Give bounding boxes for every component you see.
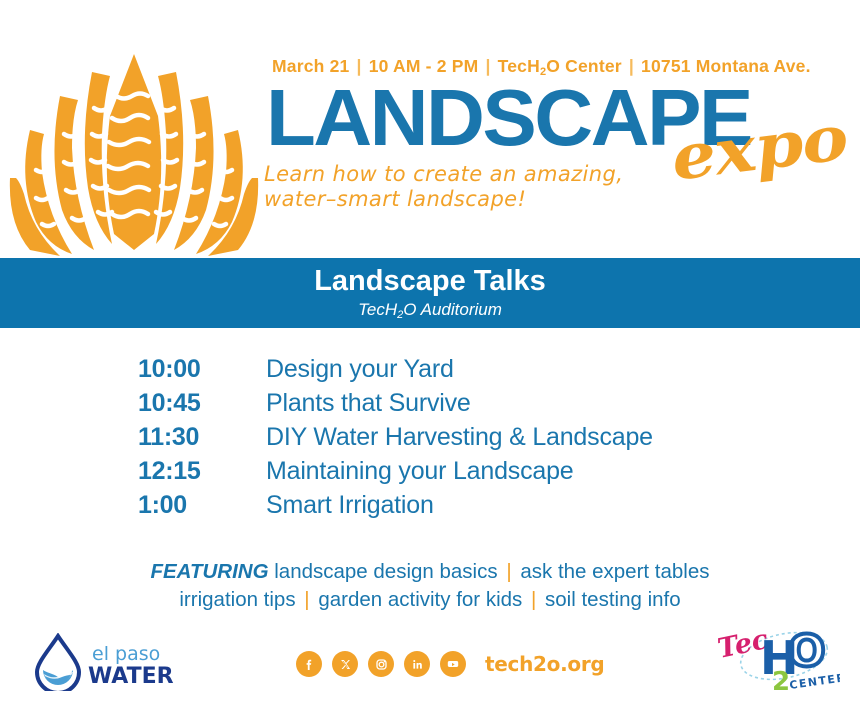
featuring-block: FEATURING landscape design basics | ask …: [0, 558, 860, 614]
schedule-time: 12:15: [138, 457, 266, 486]
talks-schedule-list: 10:00 Design your Yard 10:45 Plants that…: [138, 355, 653, 525]
featuring-label: FEATURING: [150, 560, 268, 583]
featuring-separator: |: [301, 588, 312, 611]
el-paso-water-logo: el paso WATER: [30, 633, 180, 691]
schedule-row: 10:45 Plants that Survive: [138, 389, 653, 423]
tech2o-center-logo: Tec H O 2 CENTER: [718, 622, 840, 698]
schedule-title: Design your Yard: [266, 355, 454, 384]
facebook-icon[interactable]: [296, 651, 322, 677]
featuring-item: landscape design basics: [274, 560, 497, 583]
featuring-separator: |: [503, 560, 514, 583]
schedule-title: DIY Water Harvesting & Landscape: [266, 423, 653, 452]
website-url[interactable]: tech2o.org: [485, 652, 604, 676]
schedule-title: Maintaining your Landscape: [266, 457, 574, 486]
agave-plant-icon: [8, 38, 260, 258]
flyer-page: March 21 | 10 AM - 2 PM | TecH2O Center …: [0, 0, 860, 714]
featuring-item: soil testing info: [545, 588, 681, 611]
schedule-title: Smart Irrigation: [266, 491, 434, 520]
tagline: Learn how to create an amazing, water–sm…: [264, 162, 623, 212]
social-links-row[interactable]: tech2o.org: [296, 651, 604, 677]
linkedin-icon[interactable]: [404, 651, 430, 677]
schedule-time: 10:45: [138, 389, 266, 418]
featuring-item: irrigation tips: [179, 588, 295, 611]
schedule-time: 10:00: [138, 355, 266, 384]
banner-title: Landscape Talks: [0, 258, 860, 296]
schedule-time: 11:30: [138, 423, 266, 452]
featuring-line-1: FEATURING landscape design basics | ask …: [0, 558, 860, 586]
featuring-line-2: irrigation tips | garden activity for ki…: [0, 586, 860, 614]
landscape-talks-banner: Landscape Talks TecH2O Auditorium: [0, 258, 860, 328]
featuring-item: garden activity for kids: [318, 588, 522, 611]
epw-line2: WATER: [88, 664, 174, 689]
tech2o-o: O: [788, 626, 825, 677]
epw-line1: el paso: [92, 643, 160, 665]
schedule-title: Plants that Survive: [266, 389, 471, 418]
expo-script-title: expo: [668, 107, 850, 190]
x-twitter-icon[interactable]: [332, 651, 358, 677]
banner-subtitle: TecH2O Auditorium: [0, 296, 860, 322]
schedule-time: 1:00: [138, 491, 266, 520]
schedule-row: 11:30 DIY Water Harvesting & Landscape: [138, 423, 653, 457]
featuring-item: ask the expert tables: [520, 560, 709, 583]
instagram-icon[interactable]: [368, 651, 394, 677]
youtube-icon[interactable]: [440, 651, 466, 677]
schedule-row: 10:00 Design your Yard: [138, 355, 653, 389]
featuring-separator: |: [528, 588, 539, 611]
tech2o-two: 2: [772, 667, 790, 697]
schedule-row: 1:00 Smart Irrigation: [138, 491, 653, 525]
schedule-row: 12:15 Maintaining your Landscape: [138, 457, 653, 491]
